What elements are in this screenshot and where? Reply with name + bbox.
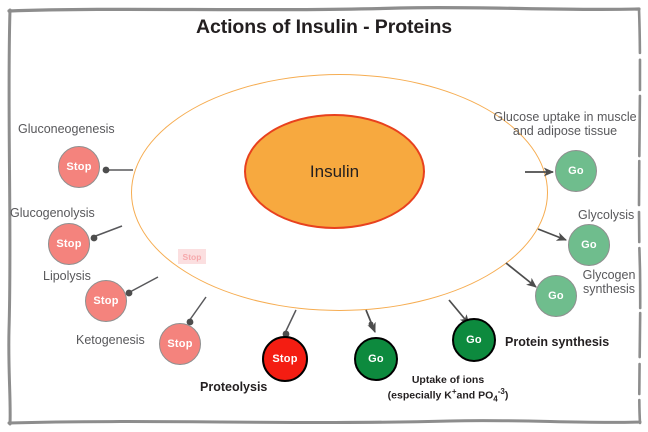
node-glycolysis[interactable]: Go <box>568 224 610 266</box>
ghost-stop-artifact: Stop <box>178 249 206 264</box>
badge-go: Go <box>568 165 584 177</box>
ions-sup-charge: -3 <box>498 387 505 396</box>
badge-stop: Stop <box>66 161 91 173</box>
label-lipolysis: Lipolysis <box>43 269 91 283</box>
node-proteolysis[interactable]: Stop <box>262 336 308 382</box>
badge-go: Go <box>548 290 564 302</box>
node-glucogenolysis[interactable]: Stop <box>48 223 90 265</box>
label-uptake-line1: Uptake of ions <box>375 374 521 386</box>
label-glycogen-synthesis: Glycogen synthesis <box>574 268 644 296</box>
label-ketogenesis: Ketogenesis <box>76 333 145 347</box>
label-gluconeogenesis: Gluconeogenesis <box>18 122 115 136</box>
badge-stop: Stop <box>272 353 297 365</box>
label-uptake-of-ions: Uptake of ions (especially K+and PO4-3) <box>375 374 521 406</box>
badge-go: Go <box>368 353 384 365</box>
page-title: Actions of Insulin - Proteins <box>0 16 648 39</box>
badge-go: Go <box>581 239 597 251</box>
ions-suffix: ) <box>505 390 509 402</box>
insulin-label: Insulin <box>310 162 359 182</box>
label-protein-synthesis: Protein synthesis <box>505 335 609 349</box>
badge-stop: Stop <box>167 338 192 350</box>
ions-prefix: (especially K <box>388 390 452 402</box>
label-glycolysis: Glycolysis <box>578 208 634 222</box>
badge-stop: Stop <box>93 295 118 307</box>
label-glucose-uptake: Glucose uptake in muscle and adipose tis… <box>490 110 640 138</box>
label-uptake-line2: (especially K+and PO4-3) <box>375 386 521 406</box>
node-lipolysis[interactable]: Stop <box>85 280 127 322</box>
label-proteolysis: Proteolysis <box>200 380 267 394</box>
ions-mid: and PO <box>457 390 494 402</box>
node-glycogen-synthesis[interactable]: Go <box>535 275 577 317</box>
node-glucose-uptake[interactable]: Go <box>555 150 597 192</box>
insulin-ellipse: Insulin <box>244 114 425 229</box>
node-ketogenesis[interactable]: Stop <box>159 323 201 365</box>
badge-go: Go <box>466 334 482 346</box>
label-glucogenolysis: Glucogenolysis <box>10 206 95 220</box>
diagram-canvas: Actions of Insulin - Proteins Insulin <box>0 0 648 432</box>
node-protein-synthesis[interactable]: Go <box>452 318 496 362</box>
badge-stop: Stop <box>56 238 81 250</box>
node-gluconeogenesis[interactable]: Stop <box>58 146 100 188</box>
